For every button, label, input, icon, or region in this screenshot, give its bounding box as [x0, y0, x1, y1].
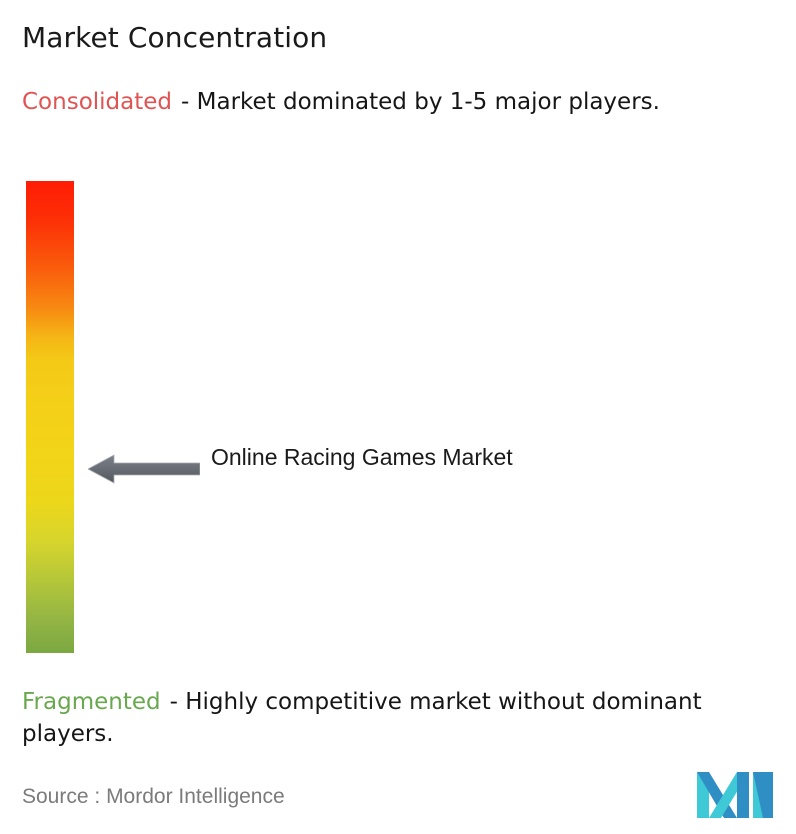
source-value: Mordor Intelligence [106, 785, 285, 808]
callout-label: Online Racing Games Market [211, 440, 541, 475]
fragmented-description: Fragmented- Highly competitive market wi… [22, 686, 788, 750]
consolidated-description-text: - Market dominated by 1-5 major players. [181, 89, 660, 115]
mordor-intelligence-logo [697, 770, 773, 820]
fragmented-label: Fragmented [22, 689, 161, 715]
concentration-gradient-bar [26, 181, 74, 653]
page-title: Market Concentration [22, 20, 327, 56]
logo-n-right-stroke [763, 772, 773, 818]
logo-m-right-stroke [737, 772, 749, 818]
market-concentration-infographic: Market Concentration Consolidated- Marke… [0, 0, 796, 834]
source-prefix: Source : [22, 785, 100, 808]
callout-arrow [88, 452, 200, 486]
consolidated-description: Consolidated- Market dominated by 1-5 ma… [22, 86, 778, 118]
source-line: Source : Mordor Intelligence [22, 783, 285, 811]
left-arrow-icon [88, 455, 200, 483]
consolidated-label: Consolidated [22, 89, 172, 115]
